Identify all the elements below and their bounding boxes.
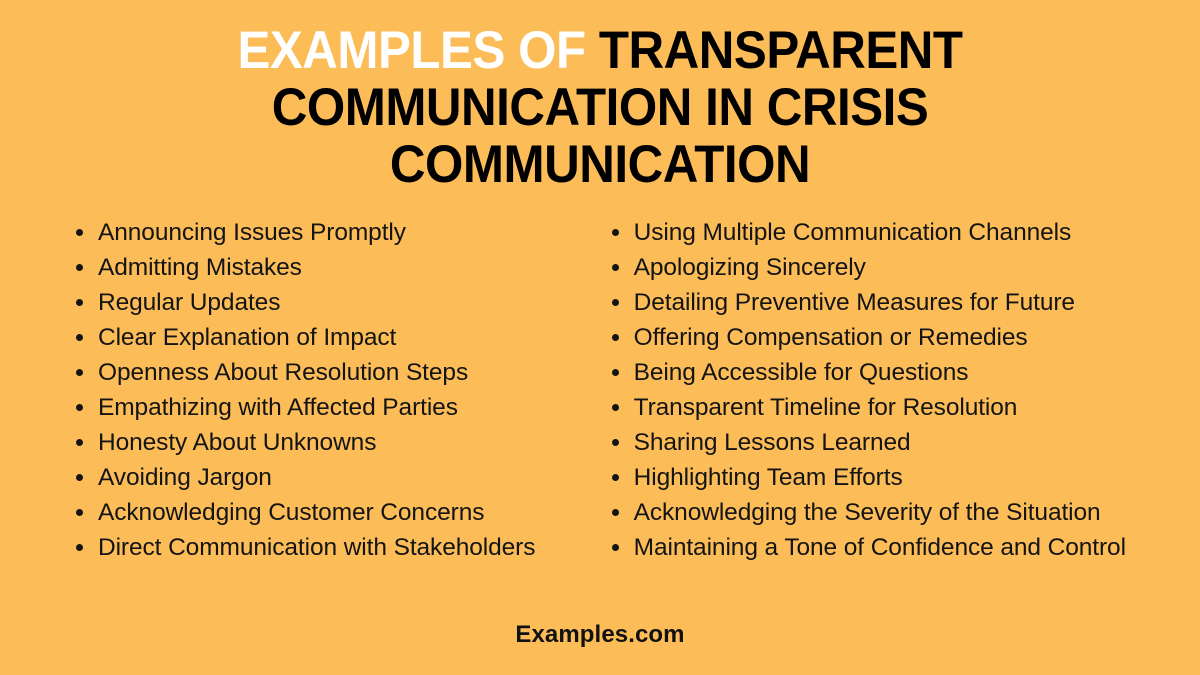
list-columns: Announcing Issues Promptly Admitting Mis… [0,193,1200,621]
list-item: Using Multiple Communication Channels [606,215,1170,250]
page-title-highlight: EXAMPLES OF [237,21,598,80]
list-item: Sharing Lessons Learned [606,425,1170,460]
list-item: Detailing Preventive Measures for Future [606,285,1170,320]
list-item: Apologizing Sincerely [606,250,1170,285]
page-title: EXAMPLES OF TRANSPARENT COMMUNICATION IN… [154,22,1047,193]
list-item-label: Maintaining a Tone of Confidence and Con… [634,534,1126,561]
list-item: Maintaining a Tone of Confidence and Con… [606,530,1170,565]
left-column: Announcing Issues Promptly Admitting Mis… [30,215,573,565]
list-item: Transparent Timeline for Resolution [606,390,1170,425]
list-item-label: Detailing Preventive Measures for Future [634,289,1075,316]
brand-label: Examples.com [515,621,684,648]
right-column: Using Multiple Communication Channels Ap… [573,215,1170,565]
list-item: Empathizing with Affected Parties [70,390,573,425]
list-item: Acknowledging the Severity of the Situat… [606,495,1170,530]
list-item: Direct Communication with Stakeholders [70,530,573,565]
list-item: Clear Explanation of Impact [70,320,573,355]
list-item: Offering Compensation or Remedies [606,320,1170,355]
list-item-label: Apologizing Sincerely [634,254,866,281]
list-item-label: Empathizing with Affected Parties [98,394,458,421]
list-item-label: Offering Compensation or Remedies [634,324,1028,351]
right-column-list: Using Multiple Communication Channels Ap… [606,215,1170,565]
list-item: Highlighting Team Efforts [606,460,1170,495]
list-item-label: Regular Updates [98,289,280,316]
list-item-label: Acknowledging Customer Concerns [98,499,484,526]
list-item: Regular Updates [70,285,573,320]
footer: Examples.com [0,621,1200,675]
list-item: Being Accessible for Questions [606,355,1170,390]
list-item-label: Acknowledging the Severity of the Situat… [634,499,1101,526]
list-item-label: Honesty About Unknowns [98,429,376,456]
list-item-label: Using Multiple Communication Channels [634,219,1072,246]
title-block: EXAMPLES OF TRANSPARENT COMMUNICATION IN… [0,0,1200,193]
list-item-label: Sharing Lessons Learned [634,429,911,456]
list-item-label: Openness About Resolution Steps [98,359,468,386]
list-item-label: Transparent Timeline for Resolution [634,394,1018,421]
list-item-label: Avoiding Jargon [98,464,272,491]
poster-canvas: EXAMPLES OF TRANSPARENT COMMUNICATION IN… [0,0,1200,675]
list-item: Admitting Mistakes [70,250,573,285]
list-item-label: Clear Explanation of Impact [98,324,396,351]
list-item: Avoiding Jargon [70,460,573,495]
list-item-label: Direct Communication with Stakeholders [98,534,535,561]
list-item: Honesty About Unknowns [70,425,573,460]
list-item-label: Being Accessible for Questions [634,359,969,386]
list-item: Announcing Issues Promptly [70,215,573,250]
list-item: Openness About Resolution Steps [70,355,573,390]
left-column-list: Announcing Issues Promptly Admitting Mis… [70,215,573,565]
list-item: Acknowledging Customer Concerns [70,495,573,530]
list-item-label: Highlighting Team Efforts [634,464,903,491]
list-item-label: Admitting Mistakes [98,254,302,281]
list-item-label: Announcing Issues Promptly [98,219,406,246]
